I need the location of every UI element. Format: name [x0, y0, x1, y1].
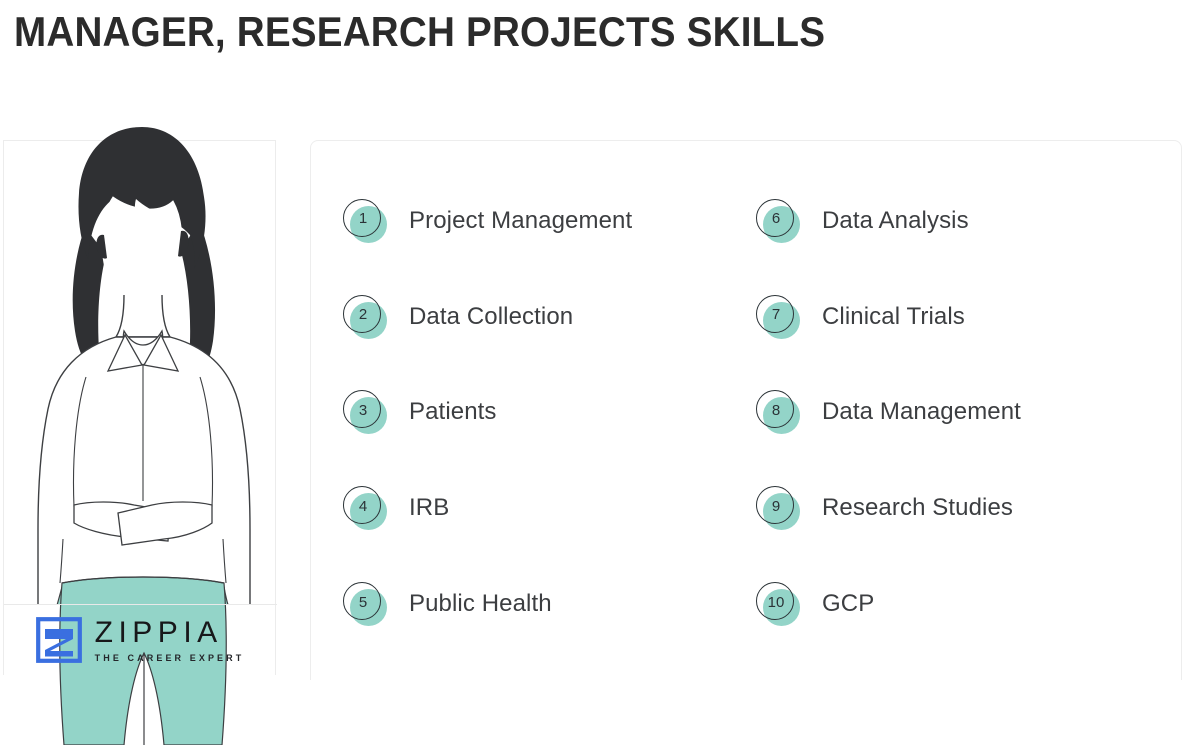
number-badge-icon: 8 [756, 390, 800, 434]
zippia-tagline: THE CAREER EXPERT [95, 654, 246, 663]
skill-label: IRB [409, 494, 449, 522]
skill-label: Public Health [409, 590, 552, 618]
number-badge-icon: 4 [343, 486, 387, 530]
number-badge-icon: 10 [756, 582, 800, 626]
skill-item-4[interactable]: 4 IRB [333, 460, 746, 556]
skill-item-10[interactable]: 10 GCP [746, 556, 1159, 652]
zippia-mark-icon [36, 617, 82, 663]
skills-card: 1 Project Management 2 Data Collection 3… [310, 140, 1182, 680]
skills-list: 1 Project Management 2 Data Collection 3… [311, 141, 1181, 680]
number-badge-icon: 9 [756, 486, 800, 530]
badge-number: 7 [772, 307, 780, 322]
number-badge-icon: 6 [756, 199, 800, 243]
badge-number: 3 [359, 403, 367, 418]
woman-arms-crossed-icon [18, 109, 268, 605]
badge-number: 5 [359, 595, 367, 610]
number-badge-icon: 2 [343, 295, 387, 339]
skill-label: Project Management [409, 207, 632, 235]
skill-item-3[interactable]: 3 Patients [333, 365, 746, 461]
number-badge-icon: 7 [756, 295, 800, 339]
skill-item-8[interactable]: 8 Data Management [746, 365, 1159, 461]
page-title: MANAGER, RESEARCH PROJECTS SKILLS [14, 8, 825, 56]
zippia-word: ZIPPIA [95, 618, 246, 648]
skill-item-9[interactable]: 9 Research Studies [746, 460, 1159, 556]
number-badge-icon: 3 [343, 390, 387, 434]
skill-item-2[interactable]: 2 Data Collection [333, 269, 746, 365]
skill-item-7[interactable]: 7 Clinical Trials [746, 269, 1159, 365]
zippia-wordmark: ZIPPIA THE CAREER EXPERT [95, 618, 246, 663]
skill-item-5[interactable]: 5 Public Health [333, 556, 746, 652]
badge-number: 4 [359, 499, 367, 514]
person-illustration [4, 109, 277, 605]
skill-label: Clinical Trials [822, 303, 965, 331]
skill-label: Data Management [822, 398, 1021, 426]
skill-label: Patients [409, 398, 497, 426]
badge-number: 8 [772, 403, 780, 418]
badge-number: 10 [768, 595, 785, 610]
zippia-logo[interactable]: ZIPPIA THE CAREER EXPERT [4, 605, 277, 675]
skill-label: Data Collection [409, 303, 573, 331]
badge-number: 1 [359, 211, 367, 226]
badge-number: 9 [772, 499, 780, 514]
badge-number: 6 [772, 211, 780, 226]
skill-label: GCP [822, 590, 874, 618]
skill-label: Data Analysis [822, 207, 969, 235]
number-badge-icon: 1 [343, 199, 387, 243]
skill-item-6[interactable]: 6 Data Analysis [746, 173, 1159, 269]
skill-label: Research Studies [822, 494, 1013, 522]
skill-item-1[interactable]: 1 Project Management [333, 173, 746, 269]
illustration-panel: ZIPPIA THE CAREER EXPERT [3, 140, 276, 675]
number-badge-icon: 5 [343, 582, 387, 626]
badge-number: 2 [359, 307, 367, 322]
